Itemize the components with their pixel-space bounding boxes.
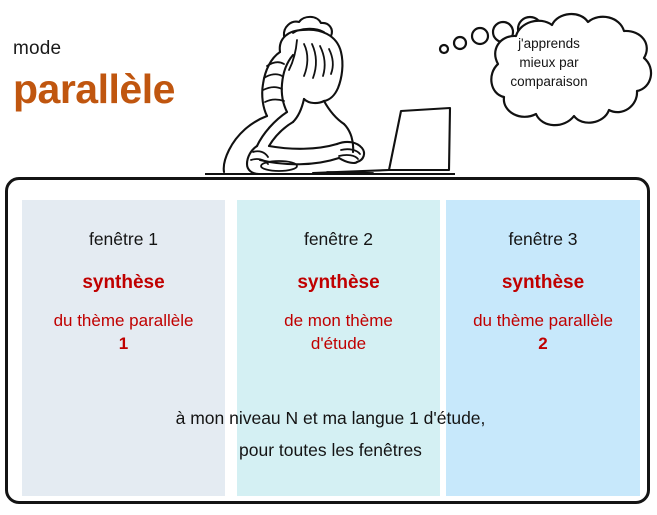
window-3-synthesis-label: synthèse — [446, 272, 640, 295]
slide-root: mode parallèle — [0, 0, 657, 515]
window-1-desc-line2: 1 — [26, 332, 221, 355]
window-1-synthesis-label: synthèse — [22, 272, 225, 295]
window-1-description: du thème parallèle 1 — [22, 309, 225, 356]
mode-value-parallele: parallèle — [13, 68, 175, 111]
windows-panel: fenêtre 1 synthèse du thème parallèle 1 … — [5, 177, 650, 504]
windows-columns: fenêtre 1 synthèse du thème parallèle 1 … — [8, 180, 653, 507]
thought-bubble: j'apprends mieux par comparaison — [438, 2, 657, 137]
window-3-label: fenêtre 3 — [446, 229, 640, 250]
thought-line-1: j'apprends — [488, 34, 610, 53]
thought-bubble-text: j'apprends mieux par comparaison — [488, 34, 610, 91]
thought-line-2: mieux par — [488, 53, 610, 72]
window-column-1[interactable]: fenêtre 1 synthèse du thème parallèle 1 — [22, 200, 225, 496]
window-2-label: fenêtre 2 — [237, 229, 440, 250]
thought-line-3: comparaison — [488, 72, 610, 91]
window-2-synthesis-label: synthèse — [237, 272, 440, 295]
window-2-desc-line2: d'étude — [241, 332, 436, 355]
window-column-3[interactable]: fenêtre 3 synthèse du thème parallèle 2 — [446, 200, 640, 496]
window-column-2[interactable]: fenêtre 2 synthèse de mon thème d'étude — [237, 200, 440, 496]
mode-label: mode — [13, 38, 61, 60]
window-2-description: de mon thème d'étude — [237, 309, 440, 356]
window-3-description: du thème parallèle 2 — [446, 309, 640, 356]
window-3-desc-line1: du thème parallèle — [450, 309, 636, 332]
window-1-label: fenêtre 1 — [22, 229, 225, 250]
student-at-laptop-icon — [205, 0, 455, 178]
window-3-desc-line2: 2 — [450, 332, 636, 355]
window-1-desc-line1: du thème parallèle — [26, 309, 221, 332]
window-2-desc-line1: de mon thème — [241, 309, 436, 332]
